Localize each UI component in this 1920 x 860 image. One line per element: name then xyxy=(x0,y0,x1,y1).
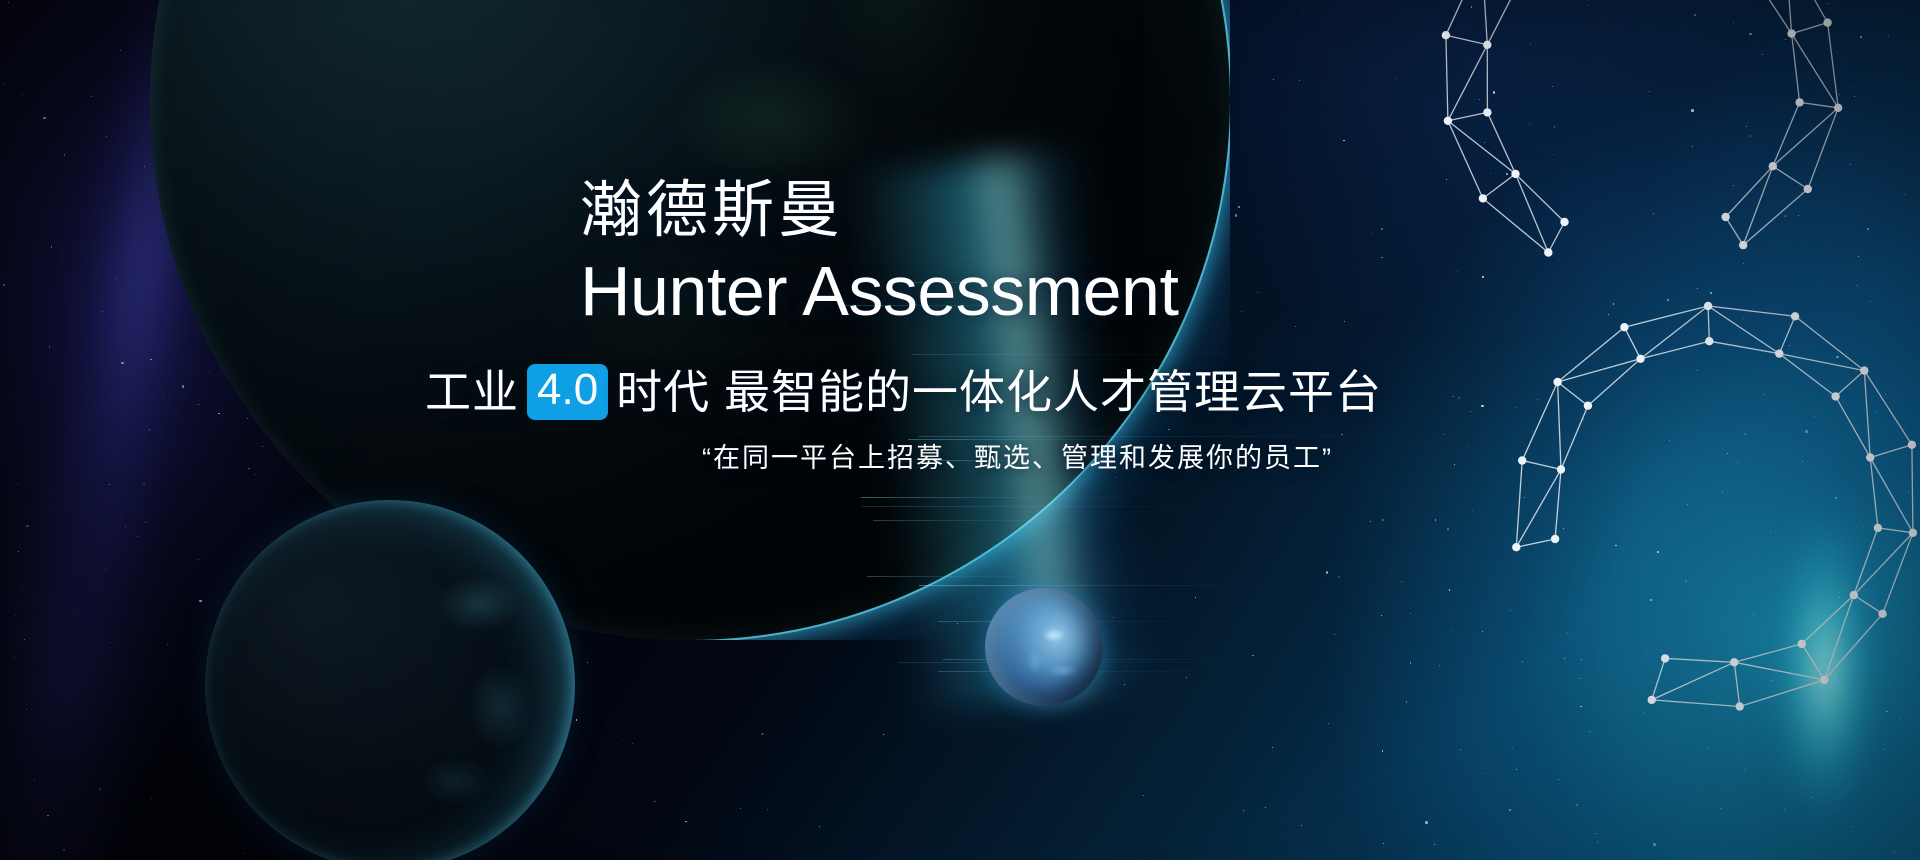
brand-name-english: Hunter Assessment xyxy=(580,253,1720,330)
dark-moon xyxy=(205,500,575,860)
tagline-quote: “在同一平台上招募、甄选、管理和发展你的员工” xyxy=(702,442,1720,474)
tagline-suffix: 时代 最智能的一体化人才管理云平台 xyxy=(616,367,1382,418)
tagline-prefix: 工业 xyxy=(425,367,519,418)
lit-moon xyxy=(985,588,1103,706)
dark-moon-texture xyxy=(205,500,575,860)
lit-moon-texture xyxy=(985,588,1103,706)
hero-copy: 瀚德斯曼 Hunter Assessment 工业 4.0 时代 最智能的一体化… xyxy=(580,178,1720,474)
tagline: 工业 4.0 时代 最智能的一体化人才管理云平台 xyxy=(425,364,1720,420)
hero-banner: 瀚德斯曼 Hunter Assessment 工业 4.0 时代 最智能的一体化… xyxy=(0,0,1920,860)
industry-version-badge: 4.0 xyxy=(527,364,608,420)
nebula-glow xyxy=(1660,430,1920,860)
brand-name-chinese: 瀚德斯曼 xyxy=(580,178,1720,245)
